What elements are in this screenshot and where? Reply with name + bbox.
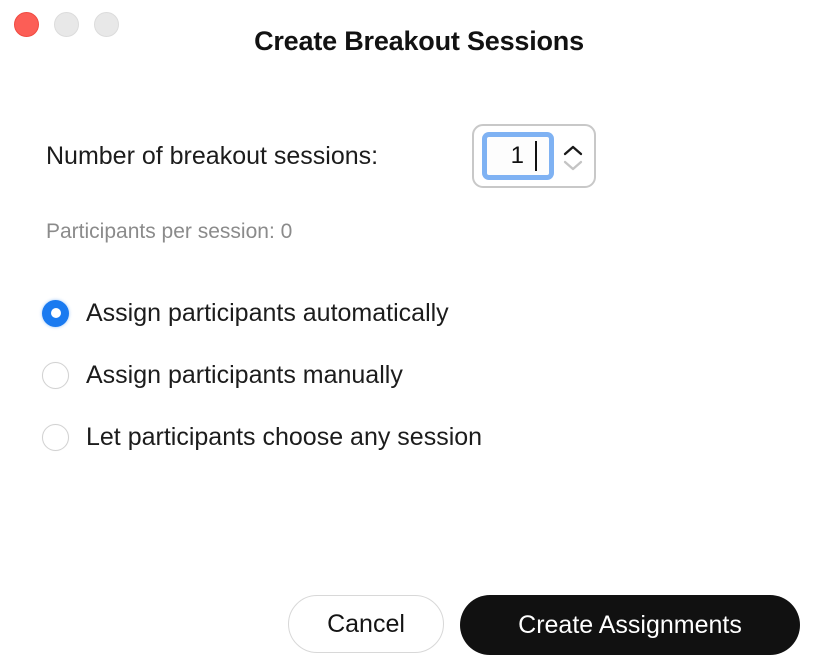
radio-indicator[interactable]: [42, 424, 69, 451]
page-title: Create Breakout Sessions: [0, 26, 838, 57]
radio-label: Let participants choose any session: [86, 423, 482, 452]
radio-label: Assign participants manually: [86, 361, 403, 390]
session-count-focus-ring: 1: [482, 132, 554, 180]
chevron-down-icon[interactable]: [563, 158, 583, 169]
chevron-up-icon[interactable]: [563, 143, 583, 154]
session-count-stepper[interactable]: 1: [472, 124, 596, 188]
session-count-label: Number of breakout sessions:: [46, 142, 378, 171]
session-count-row: Number of breakout sessions: 1: [46, 124, 792, 194]
radio-option-choose-any-session[interactable]: Let participants choose any session: [42, 406, 742, 468]
text-caret: [535, 141, 537, 171]
participants-per-session-text: Participants per session: 0: [46, 220, 292, 244]
create-assignments-button[interactable]: Create Assignments: [460, 595, 800, 655]
radio-indicator-selected[interactable]: [42, 300, 69, 327]
dialog-body: Number of breakout sessions: 1: [0, 84, 838, 602]
radio-indicator[interactable]: [42, 362, 69, 389]
session-count-value: 1: [511, 144, 526, 168]
radio-option-assign-manually[interactable]: Assign participants manually: [42, 344, 742, 406]
radio-label: Assign participants automatically: [86, 299, 449, 328]
assignment-mode-radio-group: Assign participants automatically Assign…: [42, 282, 742, 468]
radio-option-assign-automatically[interactable]: Assign participants automatically: [42, 282, 742, 344]
dialog-footer: Cancel Create Assignments: [0, 511, 838, 581]
cancel-button[interactable]: Cancel: [288, 595, 444, 653]
dialog-window: Create Breakout Sessions Number of break…: [0, 0, 838, 602]
titlebar: Create Breakout Sessions: [0, 0, 838, 84]
session-count-input[interactable]: 1: [487, 137, 549, 175]
stepper-arrows: [558, 132, 588, 180]
